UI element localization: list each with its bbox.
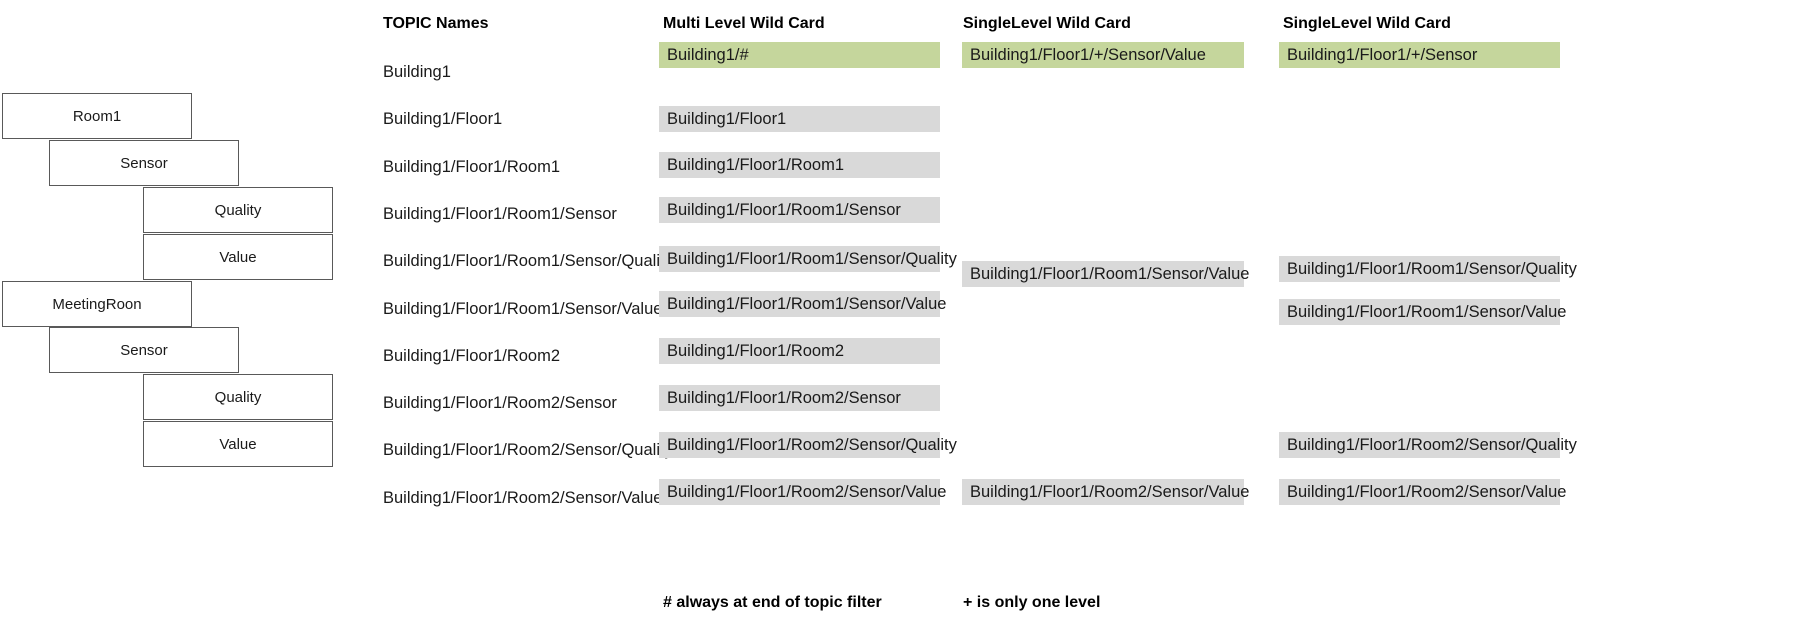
wildcard-match-cell: Building1/Floor1/Room2/Sensor/Value [659, 479, 940, 505]
topic-name: Building1/Floor1/Room1 [383, 159, 560, 176]
wildcard-match-cell: Building1/Floor1/+/Sensor/Value [962, 42, 1244, 68]
wildcard-match-cell: Building1/Floor1/Room1/Sensor/Quality [659, 246, 940, 272]
wildcard-match-cell: Building1/Floor1/Room1/Sensor/Quality [1279, 256, 1560, 282]
wildcard-match-cell: Building1/Floor1/Room1/Sensor [659, 197, 940, 223]
wildcard-match-cell: Building1/Floor1/Room2 [659, 338, 940, 364]
topic-name: Building1/Floor1/Room2/Sensor [383, 395, 617, 412]
wildcard-match-cell: Building1/Floor1/Room2/Sensor/Value [1279, 479, 1560, 505]
wildcard-match-cell: Building1/Floor1/Room2/Sensor/Quality [1279, 432, 1560, 458]
topic-name: Building1/Floor1/Room1/Sensor/Quality [383, 253, 673, 270]
wildcard-match-cell: Building1/Floor1/Room1/Sensor/Value [1279, 299, 1560, 325]
wildcard-match-cell: Building1/Floor1/Room1 [659, 152, 940, 178]
wildcard-match-cell: Building1/# [659, 42, 940, 68]
topic-name: Building1/Floor1/Room2 [383, 348, 560, 365]
topic-name: Building1/Floor1 [383, 111, 502, 128]
column-header-single-level-wild-card-2: SingleLevel Wild Card [1283, 16, 1451, 32]
topic-name: Building1/Floor1/Room1/Sensor [383, 206, 617, 223]
topic-name: Building1/Floor1/Room2/Sensor/Quality [383, 442, 673, 459]
wildcard-match-cell: Building1/Floor1/Room2/Sensor/Quality [659, 432, 940, 458]
column-header-multi-level-wild-card: Multi Level Wild Card [663, 16, 825, 32]
footnote: + is only one level [963, 595, 1100, 611]
wildcard-match-cell: Building1/Floor1/+/Sensor [1279, 42, 1560, 68]
wildcard-match-cell: Building1/Floor1/Room2/Sensor/Value [962, 479, 1244, 505]
column-header-single-level-wild-card-1: SingleLevel Wild Card [963, 16, 1131, 32]
wildcard-match-cell: Building1/Floor1/Room2/Sensor [659, 385, 940, 411]
topic-name: Building1/Floor1/Room2/Sensor/Value [383, 490, 662, 507]
topic-name: Building1 [383, 64, 451, 81]
topic-name: Building1/Floor1/Room1/Sensor/Value [383, 301, 662, 318]
footnote: # always at end of topic filter [663, 595, 882, 611]
column-header-topic-names: TOPIC Names [383, 16, 489, 32]
wildcard-match-cell: Building1/Floor1/Room1/Sensor/Value [659, 291, 940, 317]
wildcard-match-cell: Building1/Floor1 [659, 106, 940, 132]
wildcard-match-cell: Building1/Floor1/Room1/Sensor/Value [962, 261, 1244, 287]
wildcard-matching-table: TOPIC Names Multi Level Wild Card Single… [0, 0, 1808, 622]
